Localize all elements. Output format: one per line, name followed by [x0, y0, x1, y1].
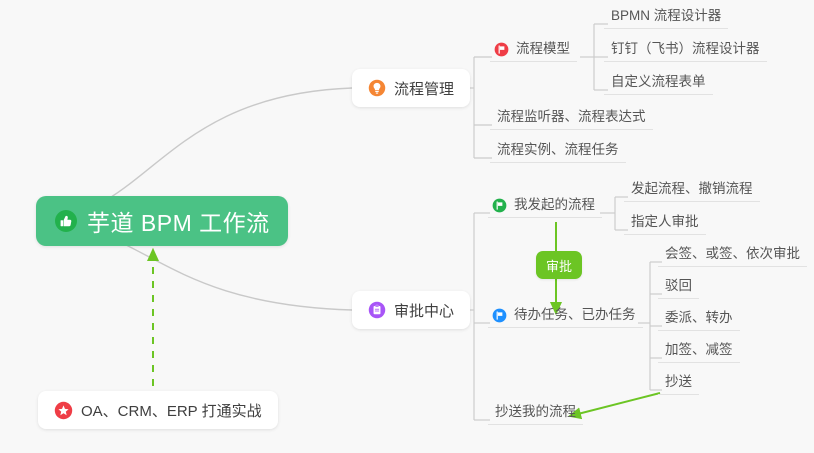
root-node-label: 芋道 BPM 工作流: [87, 204, 270, 238]
node-instance-task[interactable]: 流程实例、流程任务: [490, 141, 626, 163]
node-label-add-remove-sign: 加签、减签: [665, 338, 733, 358]
arrow-cc-to-cc-to-me: [570, 393, 660, 416]
node-todo-done-tasks[interactable]: 待办任务、已办任务: [488, 306, 643, 328]
flag-red-icon: [494, 42, 509, 57]
node-label-dingtalk-feishu-designer: 钉钉（飞书）流程设计器: [611, 37, 760, 57]
branch-node-approval-center[interactable]: 审批中心: [352, 291, 470, 329]
node-label-my-initiated: 我发起的流程: [514, 193, 595, 213]
node-delegate-transfer[interactable]: 委派、转办: [658, 309, 740, 331]
node-label-designated-approval: 指定人审批: [631, 210, 699, 230]
node-dingtalk-feishu-designer[interactable]: 钉钉（飞书）流程设计器: [604, 40, 767, 62]
node-label-instance-task: 流程实例、流程任务: [497, 138, 619, 158]
thumbs-up-icon: [54, 209, 78, 233]
node-cc-to-me[interactable]: 抄送我的流程: [488, 403, 583, 425]
lightbulb-icon: [368, 79, 386, 97]
clipboard-icon: [368, 301, 386, 319]
node-label-bpmn-designer: BPMN 流程设计器: [611, 4, 721, 24]
node-my-initiated[interactable]: 我发起的流程: [488, 196, 602, 218]
callout-node-label: OA、CRM、ERP 打通实战: [81, 400, 262, 421]
node-countersign[interactable]: 会签、或签、依次审批: [658, 245, 807, 267]
approval-tag-label: 审批: [546, 256, 572, 275]
branch-label-approval-center: 审批中心: [394, 300, 454, 321]
mindmap-canvas: 芋道 BPM 工作流 OA、CRM、ERP 打通实战 流程管理: [0, 0, 814, 453]
star-icon: [54, 401, 73, 420]
branch-node-process-management[interactable]: 流程管理: [352, 69, 470, 107]
flag-blue-icon: [492, 308, 507, 323]
node-listener-expression[interactable]: 流程监听器、流程表达式: [490, 108, 653, 130]
node-label-start-cancel-process: 发起流程、撤销流程: [631, 177, 753, 197]
node-label-countersign: 会签、或签、依次审批: [665, 242, 800, 262]
node-label-reject: 驳回: [665, 274, 692, 294]
node-bpmn-designer[interactable]: BPMN 流程设计器: [604, 7, 728, 29]
node-process-model[interactable]: 流程模型: [490, 40, 577, 62]
node-reject[interactable]: 驳回: [658, 277, 699, 299]
node-designated-approval[interactable]: 指定人审批: [624, 213, 706, 235]
node-start-cancel-process[interactable]: 发起流程、撤销流程: [624, 180, 760, 202]
branch-label-process-management: 流程管理: [394, 78, 454, 99]
node-custom-process-form[interactable]: 自定义流程表单: [604, 73, 713, 95]
node-add-remove-sign[interactable]: 加签、减签: [658, 341, 740, 363]
node-cc[interactable]: 抄送: [658, 373, 699, 395]
callout-node[interactable]: OA、CRM、ERP 打通实战: [38, 391, 278, 429]
node-label-custom-process-form: 自定义流程表单: [611, 70, 706, 90]
node-label-process-model: 流程模型: [516, 37, 570, 57]
node-label-listener-expression: 流程监听器、流程表达式: [497, 105, 646, 125]
node-label-delegate-transfer: 委派、转办: [665, 306, 733, 326]
node-label-cc: 抄送: [665, 370, 692, 390]
approval-tag[interactable]: 审批: [536, 251, 582, 279]
node-label-todo-done-tasks: 待办任务、已办任务: [514, 303, 636, 323]
root-node[interactable]: 芋道 BPM 工作流: [36, 196, 288, 246]
flag-green-icon: [492, 198, 507, 213]
node-label-cc-to-me: 抄送我的流程: [495, 400, 576, 420]
